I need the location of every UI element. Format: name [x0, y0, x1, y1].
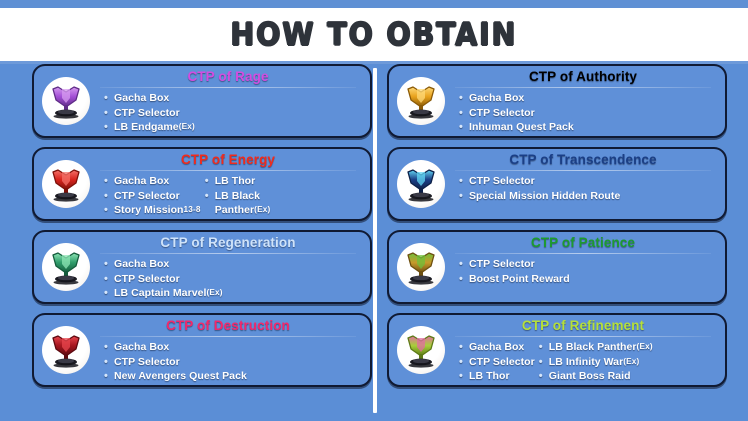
card-columns: •Gacha Box•CTP Selector•New Avengers Que…	[96, 340, 364, 385]
list-item-suffix: (Ex)	[206, 286, 222, 301]
list-item-label: LB Infinity War	[549, 355, 623, 370]
card-body: CTP of Transcendence•CTP Selector•Specia…	[451, 149, 719, 219]
list-item-suffix: (Ex)	[254, 203, 270, 218]
trophy-authority-icon	[397, 77, 445, 125]
list-item: •New Avengers Quest Pack	[104, 369, 247, 384]
bullet-dot: •	[459, 257, 469, 272]
right-column: CTP of Authority•Gacha Box•CTP Selector•…	[387, 64, 727, 396]
list-item-suffix: (Ex)	[179, 120, 195, 135]
bullet-dot: •	[104, 355, 114, 370]
list-item: •LB Thor	[205, 174, 271, 189]
bullet-group-1: •Gacha Box•CTP Selector•LB Thor	[459, 340, 535, 385]
column-divider	[373, 68, 377, 413]
list-item-label: Giant Boss Raid	[549, 369, 631, 384]
bullet-dot: •	[104, 106, 114, 121]
title-rule	[100, 336, 356, 337]
card-columns: •Gacha Box•CTP Selector•LB Thor•LB Black…	[451, 340, 719, 385]
card-title: CTP of Energy	[96, 152, 364, 168]
ctp-card-authority[interactable]: CTP of Authority•Gacha Box•CTP Selector•…	[387, 64, 727, 138]
list-item: •Gacha Box	[459, 340, 535, 355]
list-item: •Boost Point Reward	[459, 272, 570, 287]
list-item-label: Gacha Box	[114, 257, 169, 272]
list-item-suffix: (Ex)	[637, 340, 653, 355]
list-item: •LB Captain Marvel (Ex)	[104, 286, 223, 301]
card-title: CTP of Refinement	[451, 318, 719, 334]
list-item-label: Gacha Box	[469, 91, 524, 106]
bullet-group-1: •Gacha Box•CTP Selector•New Avengers Que…	[104, 340, 247, 385]
bullet-dot: •	[104, 91, 114, 106]
bullet-group-1: •Gacha Box•CTP Selector•LB Captain Marve…	[104, 257, 223, 302]
card-columns: •CTP Selector•Boost Point Reward	[451, 257, 719, 302]
card-columns: •Gacha Box•CTP Selector•LB Captain Marve…	[96, 257, 364, 302]
list-item-label: LB Thor	[215, 174, 256, 189]
list-item: •LB Black Panther (Ex)	[539, 340, 653, 355]
list-item-label: Story Mission	[114, 203, 184, 218]
list-item-label: LB Endgame	[114, 120, 179, 135]
ctp-card-rage[interactable]: CTP of Rage•Gacha Box•CTP Selector•LB En…	[32, 64, 372, 138]
ctp-card-transcendence[interactable]: CTP of Transcendence•CTP Selector•Specia…	[387, 147, 727, 221]
ctp-card-refinement[interactable]: CTP of Refinement•Gacha Box•CTP Selector…	[387, 313, 727, 387]
card-title: CTP of Transcendence	[451, 152, 719, 168]
list-item: •CTP Selector	[104, 272, 223, 287]
bullet-dot: •	[459, 174, 469, 189]
title-rule	[100, 253, 356, 254]
card-title: CTP of Authority	[451, 69, 719, 85]
bullet-dot: •	[539, 340, 549, 355]
list-item-label: New Avengers Quest Pack	[114, 369, 247, 384]
card-title: CTP of Regeneration	[96, 235, 364, 251]
card-title: CTP of Rage	[96, 69, 364, 85]
list-item-label: Panther	[215, 203, 254, 218]
card-columns: •Gacha Box•CTP Selector•Inhuman Quest Pa…	[451, 91, 719, 136]
trophy-energy-icon	[42, 160, 90, 208]
card-body: CTP of Authority•Gacha Box•CTP Selector•…	[451, 66, 719, 136]
list-item: •LB Thor	[459, 369, 535, 384]
top-accent-strip	[0, 0, 748, 8]
list-item: •Gacha Box	[104, 257, 223, 272]
page-title: HOW TO OBTAIN	[231, 17, 518, 53]
bullet-dot: •	[459, 91, 469, 106]
list-item: •Gacha Box	[104, 340, 247, 355]
card-body: CTP of Energy•Gacha Box•CTP Selector•Sto…	[96, 149, 364, 219]
list-item: •CTP Selector	[104, 106, 195, 121]
trophy-refinement-icon	[397, 326, 445, 374]
list-item: •Giant Boss Raid	[539, 369, 653, 384]
list-item-label: LB Captain Marvel	[114, 286, 206, 301]
bullet-group-2: •LB Black Panther (Ex)•LB Infinity War (…	[539, 340, 653, 385]
title-rule	[455, 170, 711, 171]
card-body: CTP of Destruction•Gacha Box•CTP Selecto…	[96, 315, 364, 385]
list-item-label: Gacha Box	[114, 174, 169, 189]
bullet-dot: •	[205, 174, 215, 189]
list-item: •Gacha Box	[104, 91, 195, 106]
ctp-card-patience[interactable]: CTP of Patience•CTP Selector•Boost Point…	[387, 230, 727, 304]
list-item: Panther (Ex)	[205, 203, 271, 218]
bullet-dot: •	[459, 120, 469, 135]
list-item: •CTP Selector	[459, 355, 535, 370]
list-item-label: CTP Selector	[469, 355, 535, 370]
trophy-patience-icon	[397, 243, 445, 291]
list-item-label: Gacha Box	[469, 340, 524, 355]
bullet-dot: •	[104, 120, 114, 135]
bullet-dot: •	[104, 272, 114, 287]
list-item-label: Boost Point Reward	[469, 272, 570, 287]
bullet-dot: •	[459, 355, 469, 370]
ctp-card-regeneration[interactable]: CTP of Regeneration•Gacha Box•CTP Select…	[32, 230, 372, 304]
list-item-label: Inhuman Quest Pack	[469, 120, 574, 135]
list-item-label: CTP Selector	[114, 272, 180, 287]
title-rule	[100, 87, 356, 88]
list-item: •CTP Selector	[459, 257, 570, 272]
list-item: •CTP Selector	[459, 106, 574, 121]
list-item-label: LB Black Panther	[549, 340, 637, 355]
bullet-dot: •	[104, 174, 114, 189]
bullet-group-2: •LB Thor•LB BlackPanther (Ex)	[205, 174, 271, 219]
list-item: •Gacha Box	[104, 174, 201, 189]
list-item-label: LB Thor	[469, 369, 510, 384]
bullet-group-1: •Gacha Box•CTP Selector•Story Mission 13…	[104, 174, 201, 219]
list-item-suffix: (Ex)	[623, 355, 639, 370]
trophy-regeneration-icon	[42, 243, 90, 291]
bullet-group-1: •CTP Selector•Special Mission Hidden Rou…	[459, 174, 620, 219]
list-item: •CTP Selector	[459, 174, 620, 189]
trophy-transcendence-icon	[397, 160, 445, 208]
bullet-dot: •	[104, 340, 114, 355]
list-item-label: CTP Selector	[114, 106, 180, 121]
list-item-label: CTP Selector	[469, 174, 535, 189]
card-body: CTP of Regeneration•Gacha Box•CTP Select…	[96, 232, 364, 302]
ctp-card-destruction[interactable]: CTP of Destruction•Gacha Box•CTP Selecto…	[32, 313, 372, 387]
bullet-dot: •	[104, 369, 114, 384]
card-body: CTP of Refinement•Gacha Box•CTP Selector…	[451, 315, 719, 385]
bullet-dot: •	[104, 286, 114, 301]
list-item-label: CTP Selector	[469, 257, 535, 272]
card-columns: •Gacha Box•CTP Selector•Story Mission 13…	[96, 174, 364, 219]
list-item-label: Special Mission Hidden Route	[469, 189, 620, 204]
list-item: •LB Endgame (Ex)	[104, 120, 195, 135]
bullet-dot: •	[539, 355, 549, 370]
list-item-label: CTP Selector	[114, 189, 180, 204]
list-item: •LB Infinity War (Ex)	[539, 355, 653, 370]
bullet-dot: •	[104, 203, 114, 218]
bullet-dot: •	[459, 189, 469, 204]
bullet-group-1: •Gacha Box•CTP Selector•Inhuman Quest Pa…	[459, 91, 574, 136]
bullet-group-1: •CTP Selector•Boost Point Reward	[459, 257, 570, 302]
card-title: CTP of Destruction	[96, 318, 364, 334]
bullet-dot: •	[104, 257, 114, 272]
bullet-group-1: •Gacha Box•CTP Selector•LB Endgame (Ex)	[104, 91, 195, 136]
list-item-label: CTP Selector	[469, 106, 535, 121]
list-item: •Story Mission 13-8	[104, 203, 201, 218]
bullet-dot: •	[459, 340, 469, 355]
ctp-card-energy[interactable]: CTP of Energy•Gacha Box•CTP Selector•Sto…	[32, 147, 372, 221]
bullet-dot: •	[459, 272, 469, 287]
trophy-destruction-icon	[42, 326, 90, 374]
list-item: •Gacha Box	[459, 91, 574, 106]
title-rule	[100, 170, 356, 171]
title-rule	[455, 336, 711, 337]
bullet-dot: •	[205, 189, 215, 204]
trophy-rage-icon	[42, 77, 90, 125]
list-item: •LB Black	[205, 189, 271, 204]
bullet-dot: •	[539, 369, 549, 384]
list-item-label: Gacha Box	[114, 340, 169, 355]
cards-board: CTP of Rage•Gacha Box•CTP Selector•LB En…	[0, 64, 748, 421]
left-column: CTP of Rage•Gacha Box•CTP Selector•LB En…	[32, 64, 372, 396]
card-body: CTP of Patience•CTP Selector•Boost Point…	[451, 232, 719, 302]
card-columns: •CTP Selector•Special Mission Hidden Rou…	[451, 174, 719, 219]
list-item-label: Gacha Box	[114, 91, 169, 106]
bullet-dot: •	[459, 106, 469, 121]
bullet-dot: •	[459, 369, 469, 384]
list-item-suffix: 13-8	[184, 203, 201, 218]
card-columns: •Gacha Box•CTP Selector•LB Endgame (Ex)	[96, 91, 364, 136]
list-item-label: LB Black	[215, 189, 260, 204]
card-body: CTP of Rage•Gacha Box•CTP Selector•LB En…	[96, 66, 364, 136]
list-item: •CTP Selector	[104, 355, 247, 370]
title-rule	[455, 253, 711, 254]
list-item-label: CTP Selector	[114, 355, 180, 370]
card-title: CTP of Patience	[451, 235, 719, 251]
title-rule	[455, 87, 711, 88]
header-band: HOW TO OBTAIN	[0, 8, 748, 62]
list-item: •Inhuman Quest Pack	[459, 120, 574, 135]
bullet-dot: •	[104, 189, 114, 204]
list-item: •Special Mission Hidden Route	[459, 189, 620, 204]
list-item: •CTP Selector	[104, 189, 201, 204]
